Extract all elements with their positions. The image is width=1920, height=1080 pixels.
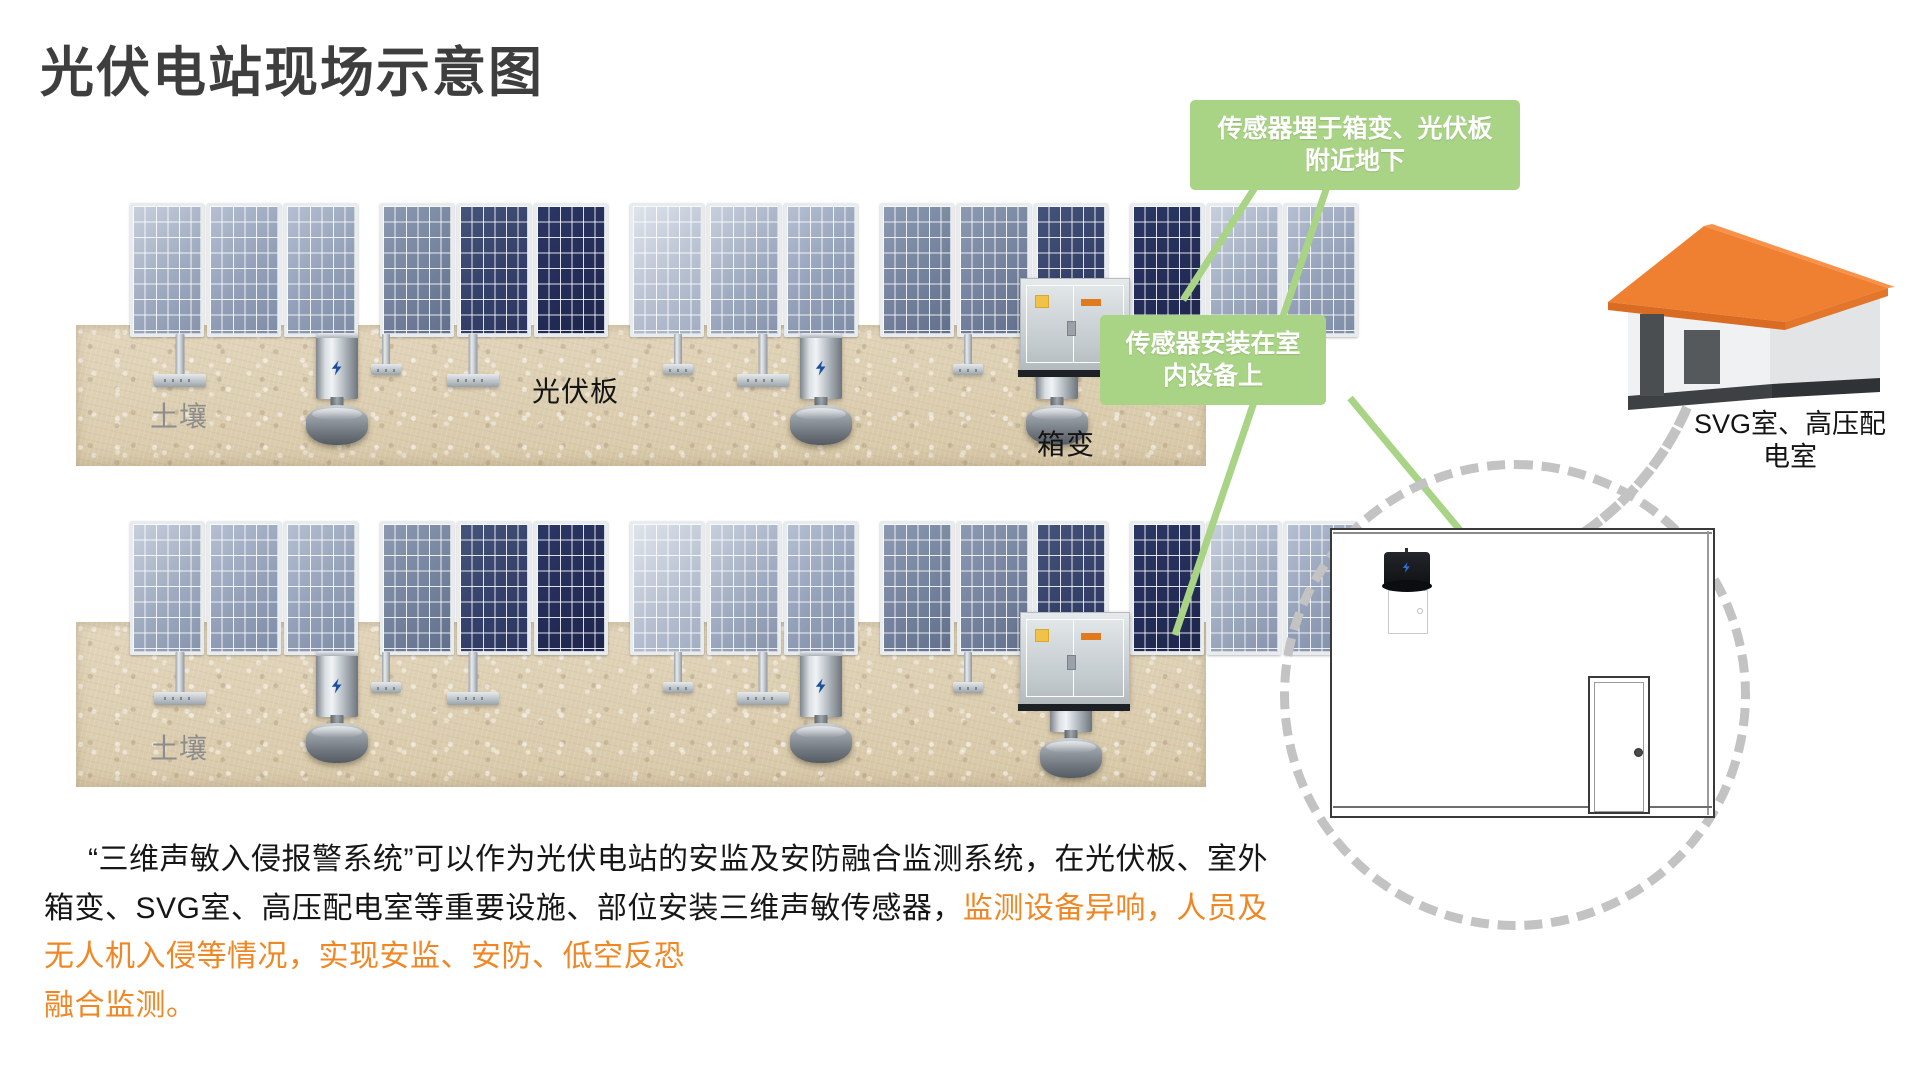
- solar-panel: [207, 521, 281, 655]
- panel-group: [380, 203, 608, 337]
- mount-foot: [371, 364, 401, 375]
- mount-pole: [674, 334, 682, 368]
- mount-foot: [737, 692, 789, 705]
- cabinet-indicator: [1417, 608, 1423, 614]
- solar-panel: [630, 203, 704, 337]
- soil-label-row-2: 土壤: [150, 727, 208, 767]
- diagram-canvas: 光伏电站现场示意图: [0, 0, 1920, 1080]
- panel-mount: [950, 334, 986, 380]
- mount-pole: [382, 652, 390, 686]
- door-knob-icon: [1634, 748, 1643, 757]
- sensor-base-disc: [790, 405, 852, 445]
- page-title: 光伏电站现场示意图: [40, 28, 544, 107]
- orange-nameplate-icon: [1081, 633, 1101, 640]
- mount-foot: [447, 692, 499, 705]
- sensor-base-disc: [790, 723, 852, 763]
- solar-panel: [284, 203, 358, 337]
- mount-pole: [176, 334, 185, 378]
- solar-panel: [380, 521, 454, 655]
- indoor-room-diagram: [1330, 528, 1715, 818]
- panel-mount: [735, 652, 791, 708]
- paragraph-line-1: “三维声敏入侵报警系统”可以作为光伏电站的安监及安防融合监测系统，在光伏板、室外: [44, 836, 1444, 885]
- mount-pole: [964, 334, 972, 368]
- mount-pole: [759, 652, 768, 696]
- solar-panel-row-2: [130, 521, 1358, 655]
- sensor-base-disc: [306, 405, 368, 445]
- paragraph-line-3: 无人机入侵等情况，实现安监、安防、低空反恐: [44, 933, 1444, 982]
- solar-panel: [130, 521, 204, 655]
- transformer-label-row-1: 箱变: [1037, 423, 1095, 463]
- house-icon: [1580, 196, 1900, 426]
- paragraph-line-2: 箱变、SVG室、高压配电室等重要设施、部位安装三维声敏传感器，监测设备异响，人员…: [44, 885, 1444, 934]
- solar-panel: [707, 203, 781, 337]
- panel-mount: [368, 334, 404, 380]
- mount-foot: [953, 682, 983, 693]
- mount-foot: [447, 374, 499, 387]
- lightning-sensor-logo-icon: [328, 359, 346, 377]
- sensor-base-disc: [306, 723, 368, 763]
- paragraph-line-4: 融合监测。: [44, 982, 1444, 1031]
- indoor-sensor-icon: [1382, 548, 1432, 592]
- panel-mount: [660, 334, 696, 380]
- lightning-sensor-logo-icon: [328, 677, 346, 695]
- solar-panel: [457, 203, 531, 337]
- solar-panel: [534, 521, 608, 655]
- panel-mount: [950, 652, 986, 698]
- mount-pole: [964, 652, 972, 686]
- mount-foot: [154, 374, 206, 387]
- cabinet-handle: [1067, 655, 1076, 670]
- orange-nameplate-icon: [1081, 299, 1101, 306]
- soil-label-row-1: 土壤: [150, 395, 208, 435]
- callout-sensor-indoor[interactable]: 传感器安装在室内设备上: [1100, 315, 1326, 405]
- svg-room-label: SVG室、高压配电室: [1690, 408, 1890, 474]
- transformer-base: [1018, 704, 1130, 711]
- solar-panel: [207, 203, 281, 337]
- solar-panel: [1130, 521, 1204, 655]
- mount-foot: [371, 682, 401, 693]
- indoor-equipment-cabinet: [1388, 590, 1428, 634]
- room-floor: [1333, 806, 1712, 808]
- lightning-sensor-logo-icon: [812, 677, 830, 695]
- mount-foot: [737, 374, 789, 387]
- solar-panel: [380, 203, 454, 337]
- panel-group: [380, 521, 608, 655]
- panel-mount: [660, 652, 696, 698]
- mount-foot: [154, 692, 206, 705]
- mount-foot: [953, 364, 983, 375]
- room-ceiling: [1333, 532, 1712, 538]
- warning-triangle-icon: [1035, 629, 1049, 642]
- solar-panel: [880, 521, 954, 655]
- warning-triangle-icon: [1035, 295, 1049, 308]
- solar-panel: [457, 521, 531, 655]
- panel-group: [130, 203, 358, 337]
- solar-panel: [784, 203, 858, 337]
- sensor-brim: [1382, 580, 1432, 592]
- mount-pole: [176, 652, 185, 696]
- panel-mount: [152, 652, 208, 708]
- panel-group: [630, 203, 858, 337]
- transformer-cabinet: [1020, 612, 1130, 706]
- cabinet-handle: [1067, 321, 1076, 336]
- solar-panel: [130, 203, 204, 337]
- panel-mount: [152, 334, 208, 390]
- callout-sensor-buried[interactable]: 传感器埋于箱变、光伏板附近地下: [1190, 100, 1520, 190]
- mount-pole: [469, 652, 478, 696]
- panel-mount: [445, 652, 501, 708]
- solar-panel: [707, 521, 781, 655]
- solar-panel: [534, 203, 608, 337]
- mount-pole: [382, 334, 390, 368]
- mount-pole: [469, 334, 478, 378]
- mount-foot: [663, 364, 693, 375]
- solar-panel: [630, 521, 704, 655]
- solar-panel: [784, 521, 858, 655]
- mount-pole: [674, 652, 682, 686]
- paragraph-line-2-plain: 箱变、SVG室、高压配电室等重要设施、部位安装三维声敏传感器，: [44, 892, 963, 925]
- panel-mount: [368, 652, 404, 698]
- panel-mount: [735, 334, 791, 390]
- solar-panel: [880, 203, 954, 337]
- panel-group: [630, 521, 858, 655]
- mount-pole: [759, 334, 768, 378]
- room-right-wall: [1707, 531, 1709, 815]
- lightning-sensor-logo-icon: [812, 359, 830, 377]
- paragraph-line-2-highlight: 监测设备异响，人员及: [963, 892, 1268, 925]
- panel-mount: [445, 334, 501, 390]
- panel-group: [130, 521, 358, 655]
- sensor-base-disc: [1040, 738, 1102, 778]
- lightning-sensor-logo-icon: [1399, 561, 1414, 574]
- description-paragraph: “三维声敏入侵报警系统”可以作为光伏电站的安监及安防融合监测系统，在光伏板、室外…: [44, 836, 1444, 1030]
- door-icon: [1588, 676, 1650, 814]
- pv-panel-label: 光伏板: [532, 370, 619, 410]
- solar-panel: [284, 521, 358, 655]
- solar-panel: [1207, 521, 1281, 655]
- mount-foot: [663, 682, 693, 693]
